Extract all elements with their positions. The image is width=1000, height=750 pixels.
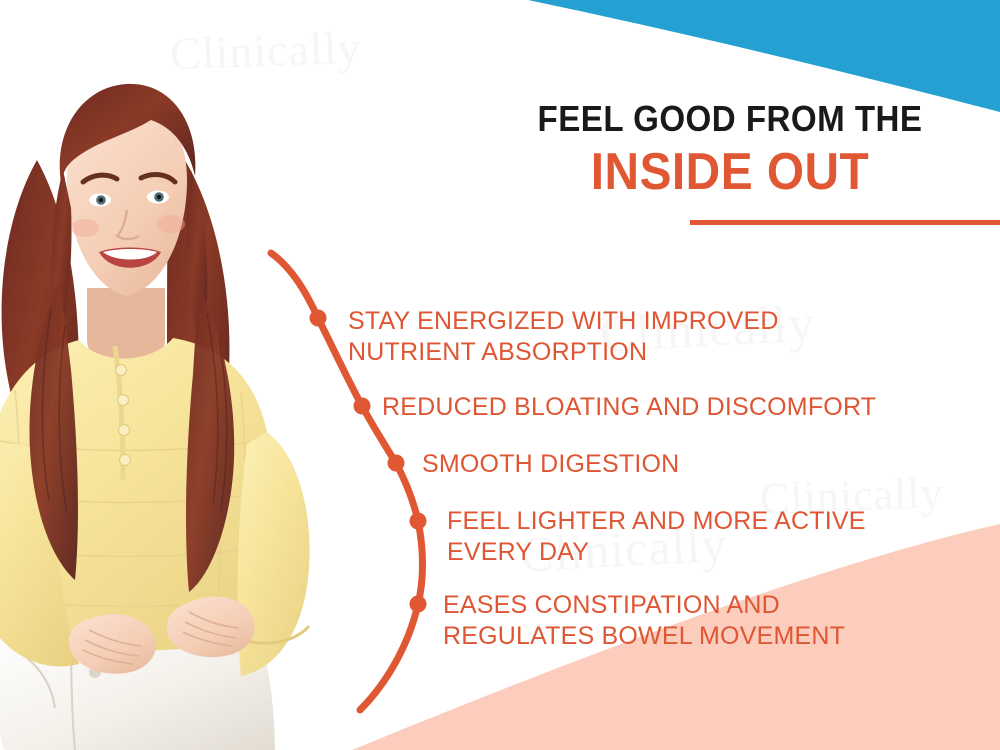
- benefit-item-4: EASES CONSTIPATION AND REGULATES BOWEL M…: [443, 590, 845, 651]
- bullet-dot: [410, 513, 427, 530]
- bullet-dot: [410, 596, 427, 613]
- bullet-dot: [310, 310, 327, 327]
- benefit-item-0: STAY ENERGIZED WITH IMPROVED NUTRIENT AB…: [348, 306, 779, 367]
- benefit-item-3: FEEL LIGHTER AND MORE ACTIVE EVERY DAY: [447, 506, 866, 567]
- bullet-dot: [388, 455, 405, 472]
- benefit-item-1: REDUCED BLOATING AND DISCOMFORT: [382, 392, 876, 423]
- bullet-dot: [354, 398, 371, 415]
- benefit-item-2: SMOOTH DIGESTION: [422, 449, 679, 480]
- promo-banner: Clinically Clinically Clinically Clinica…: [0, 0, 1000, 750]
